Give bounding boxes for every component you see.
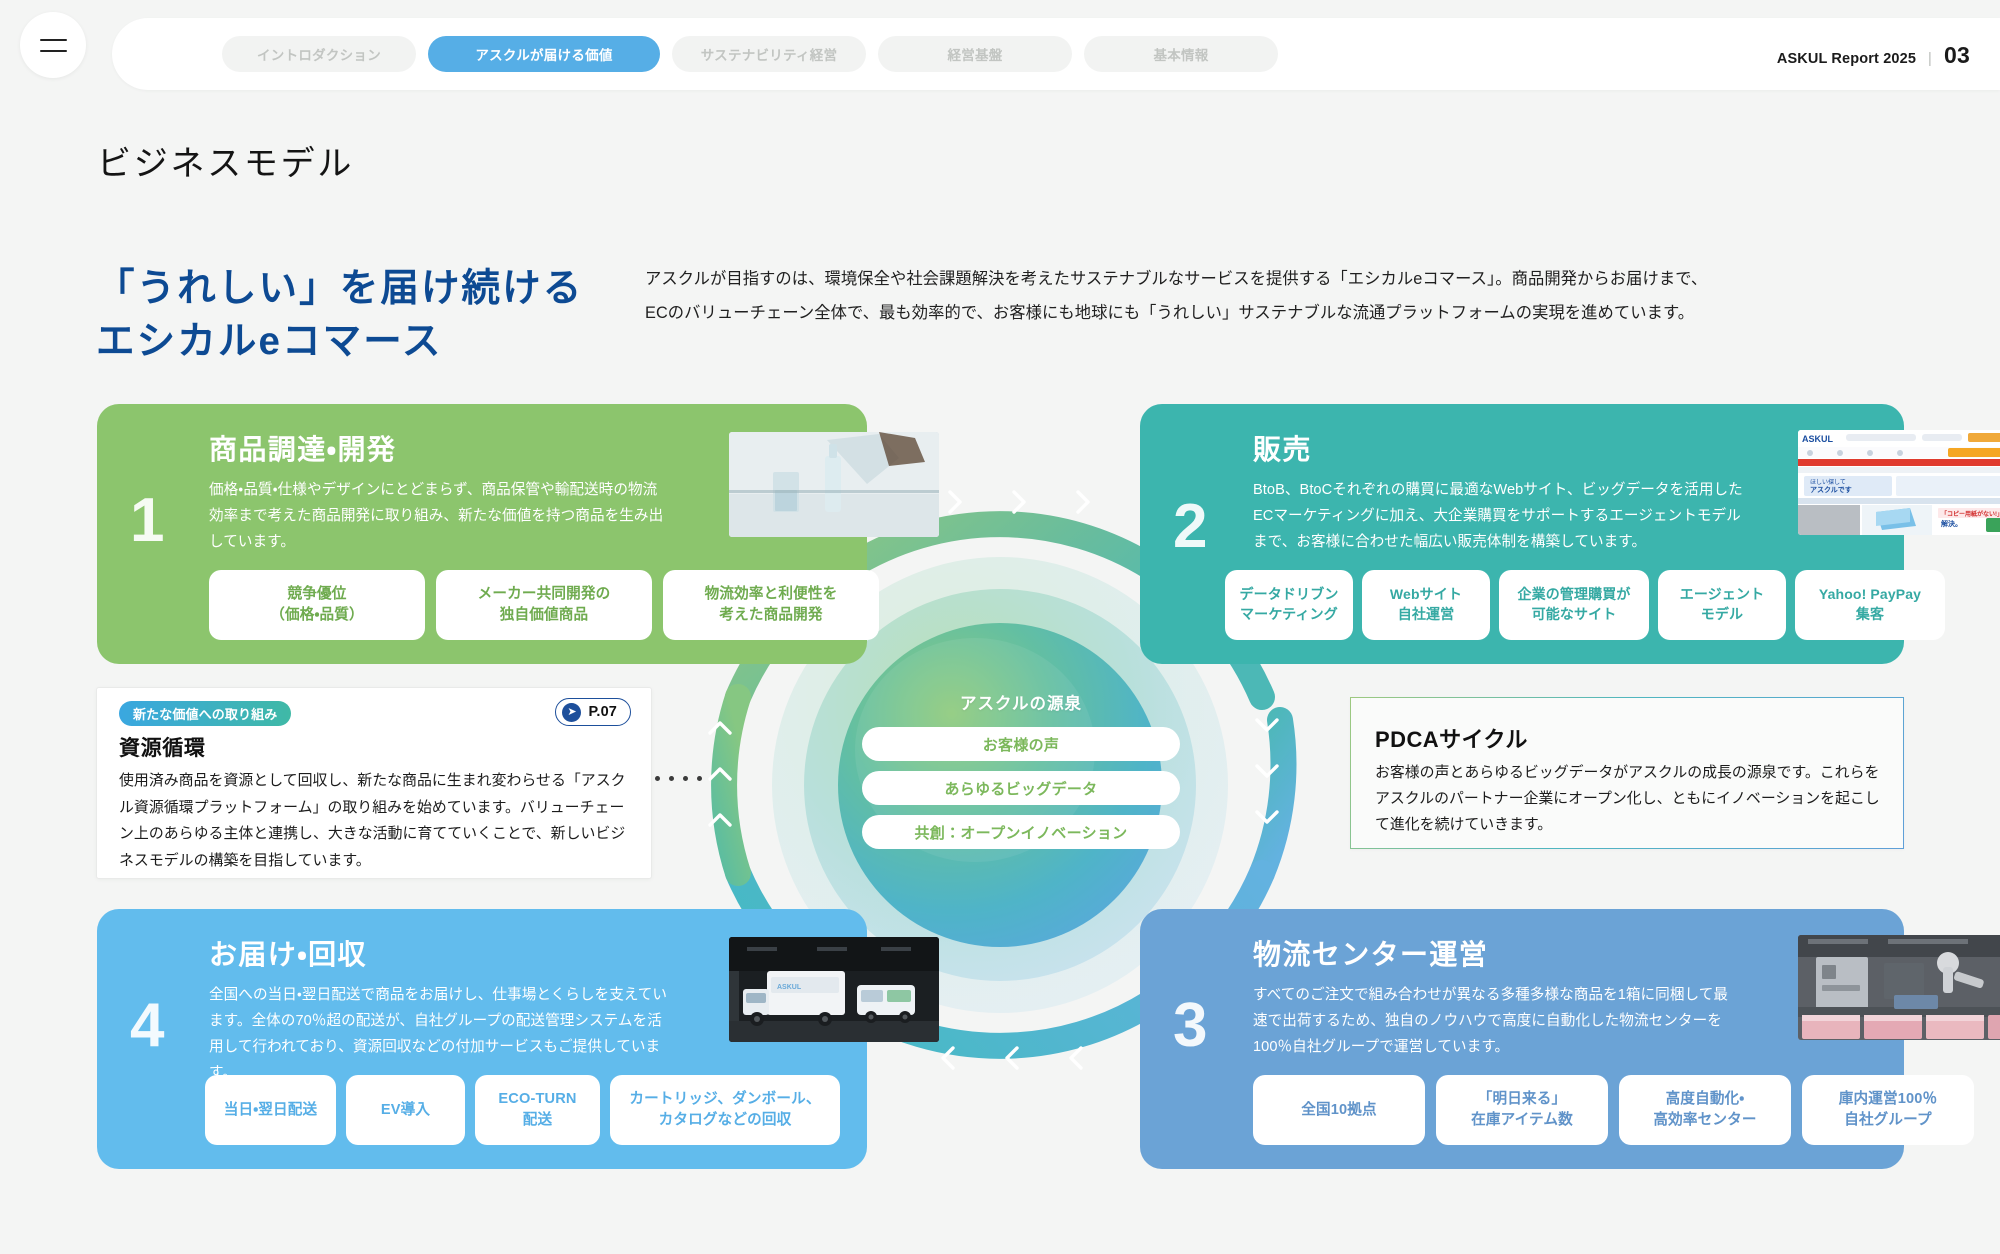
chevrons-left-up	[705, 718, 735, 830]
panel-2-chip-5[interactable]: Yahoo! PayPay 集客	[1795, 570, 1945, 640]
panel-sales: 2 販売 BtoB、BtoCそれぞれの購買に最適なWebサイト、ビッグデータを活…	[1140, 404, 1904, 664]
chip-line-2: （価格・品質）	[270, 607, 364, 623]
chip-line-2: マーケティング	[1240, 606, 1338, 622]
chip-line-1: 「明日来る」	[1478, 1091, 1566, 1107]
resource-card-page-link[interactable]: ➤ P.07	[555, 698, 631, 726]
bottle-pouring-image	[729, 432, 939, 537]
nav-tabs: イントロダクション アスクルが届ける価値 サステナビリティ経営 経営基盤 基本情…	[222, 36, 1278, 72]
resource-circulation-card: 新たな価値への取り組み ➤ P.07 資源循環 使用済み商品を資源として回収し、…	[96, 687, 652, 879]
panel-2-chips: データドリブン マーケティング Webサイト 自社運営 企業の管理購買が 可能な…	[1225, 570, 1945, 640]
panel-4-body: お届け・回収 全国への当日・翌日配送で商品をお届けし、仕事場とくらしを支えていま…	[209, 933, 674, 1087]
chip-line-1: 物流効率と利便性を	[705, 586, 838, 602]
resource-card-body: 使用済み商品を資源として回収し、新たな商品に生まれ変わらせる「アスクル資源循環プ…	[119, 768, 631, 874]
nav-tab-management-base[interactable]: 経営基盤	[878, 36, 1072, 72]
panel-4-chip-4[interactable]: カートリッジ、ダンボール、 カタログなどの回収	[610, 1075, 840, 1145]
lede-heading-line1: 「うれしい」を届け続ける	[96, 262, 583, 315]
panel-4-thumbnail: ASKUL	[729, 937, 939, 1042]
panel-4-chip-1[interactable]: 当日・翌日配送	[205, 1075, 336, 1145]
chip-line-1: EV導入	[381, 1102, 430, 1118]
page-header: イントロダクション アスクルが届ける価値 サステナビリティ経営 経営基盤 基本情…	[0, 0, 2000, 92]
source-block: アスクルの源泉 お客様の声 あらゆるビッグデータ 共創：オープンイノベーション	[862, 690, 1180, 859]
chevrons-right-down	[1252, 715, 1282, 827]
svg-text:解決。: 解決。	[1940, 519, 1962, 528]
panel-1-chip-2[interactable]: メーカー共同開発の 独自価値商品	[436, 570, 652, 640]
chip-line-2: 独自価値商品	[500, 607, 588, 623]
panel-1-chips: 競争優位 （価格・品質） メーカー共同開発の 独自価値商品 物流効率と利便性を …	[209, 570, 879, 640]
chip-line-1: 全国10拠点	[1301, 1102, 1376, 1118]
chip-line-1: カートリッジ、ダンボール、	[629, 1091, 820, 1107]
nav-tab-basic-info[interactable]: 基本情報	[1084, 36, 1278, 72]
panel-4-chip-3[interactable]: ECO-TURN 配送	[475, 1075, 600, 1145]
panel-3-chip-1[interactable]: 全国10拠点	[1253, 1075, 1425, 1145]
automated-warehouse-image	[1798, 935, 2000, 1040]
panel-2-chip-4[interactable]: エージェント モデル	[1658, 570, 1786, 640]
hamburger-menu-icon[interactable]	[20, 12, 86, 78]
panel-1-body: 商品調達・開発 価格・品質・仕様やデザインにとどまらず、商品保管や輸配送時の物流…	[209, 428, 669, 556]
panel-2-chip-1[interactable]: データドリブン マーケティング	[1225, 570, 1353, 640]
lede-heading-line2: エシカルeコマース	[96, 315, 583, 368]
panel-2-chip-2[interactable]: Webサイト 自社運営	[1362, 570, 1490, 640]
chip-line-2: 可能なサイト	[1532, 606, 1617, 622]
nav-tab-sustainability[interactable]: サステナビリティ経営	[672, 36, 866, 72]
panel-procurement-development: 1 商品調達・開発 価格・品質・仕様やデザインにとどまらず、商品保管や輸配送時の…	[97, 404, 867, 664]
chevrons-top-right	[945, 487, 1093, 517]
svg-text:ASKUL: ASKUL	[777, 984, 802, 991]
source-pill-bigdata: あらゆるビッグデータ	[862, 771, 1180, 805]
panel-3-chip-2[interactable]: 「明日来る」 在庫アイテム数	[1436, 1075, 1608, 1145]
panel-4-title: お届け・回収	[209, 933, 674, 973]
arrow-right-icon: ➤	[562, 703, 581, 722]
lede-body-line1: アスクルが目指すのは、環境保全や社会課題解決を考えたサステナブルなサービスを提供…	[645, 263, 1895, 297]
chip-line-1: 競争優位	[288, 586, 347, 602]
svg-text:アスクルです: アスクルです	[1810, 485, 1852, 494]
nav-tab-askul-value[interactable]: アスクルが届ける価値	[428, 36, 660, 72]
chip-line-2: 自社運営	[1398, 606, 1455, 622]
panel-3-chip-3[interactable]: 高度自動化・ 高効率センター	[1619, 1075, 1791, 1145]
panel-2-body: 販売 BtoB、BtoCそれぞれの購買に最適なWebサイト、ビッグデータを活用し…	[1253, 428, 1753, 556]
panel-1-number: 1	[130, 490, 164, 552]
panel-2-chip-3[interactable]: 企業の管理購買が 可能なサイト	[1499, 570, 1649, 640]
nav-tab-introduction[interactable]: イントロダクション	[222, 36, 416, 72]
chip-line-2: 集客	[1856, 606, 1884, 622]
chip-line-1: Yahoo! PayPay	[1819, 586, 1921, 602]
panel-1-desc: 価格・品質・仕様やデザインにとどまらず、商品保管や輸配送時の物流効率まで考えた商…	[209, 478, 669, 556]
report-title: ASKUL Report 2025	[1777, 51, 1916, 67]
resource-card-title: 資源循環	[119, 732, 206, 762]
chip-line-1: 企業の管理購買が	[1517, 586, 1630, 602]
panel-1-title: 商品調達・開発	[209, 428, 669, 468]
panel-4-chip-2[interactable]: EV導入	[346, 1075, 465, 1145]
panel-3-title: 物流センター運営	[1253, 933, 1733, 973]
resource-card-badge: 新たな価値への取り組み	[119, 701, 291, 726]
panel-2-thumbnail: ASKUL ほしい探して アスクルです	[1798, 430, 2000, 535]
chip-line-1: Webサイト	[1390, 586, 1462, 602]
chip-line-2: 考えた商品開発	[719, 607, 822, 623]
chip-line-2: 高効率センター	[1653, 1112, 1756, 1128]
panel-4-number: 4	[130, 995, 164, 1057]
chip-line-1: 庫内運営100％	[1839, 1091, 1938, 1107]
panel-2-number: 2	[1173, 496, 1207, 558]
delivery-trucks-image: ASKUL	[729, 937, 939, 1042]
source-pill-voice: お客様の声	[862, 727, 1180, 761]
askul-website-screenshot: ASKUL ほしい探して アスクルです	[1798, 430, 2000, 535]
chip-line-1: エージェント	[1680, 586, 1765, 602]
chip-line-1: 高度自動化・	[1666, 1091, 1745, 1107]
report-separator: |	[1928, 51, 1932, 67]
panel-1-chip-3[interactable]: 物流効率と利便性を 考えた商品開発	[663, 570, 879, 640]
page-link-label: P.07	[588, 704, 617, 720]
svg-text:ASKUL: ASKUL	[1802, 434, 1834, 444]
panel-3-chips: 全国10拠点 「明日来る」 在庫アイテム数 高度自動化・ 高効率センター 庫内運…	[1253, 1075, 1974, 1145]
pdca-cycle-card: PDCAサイクル お客様の声とあらゆるビッグデータがアスクルの成長の源泉です。こ…	[1350, 697, 1904, 849]
panel-4-desc: 全国への当日・翌日配送で商品をお届けし、仕事場とくらしを支えています。全体の70…	[209, 983, 674, 1087]
panel-3-chip-4[interactable]: 庫内運営100％ 自社グループ	[1802, 1075, 1974, 1145]
panel-1-chip-1[interactable]: 競争優位 （価格・品質）	[209, 570, 425, 640]
panel-3-desc: すべてのご注文で組み合わせが異なる多種多様な商品を1箱に同梱して最速で出荷するた…	[1253, 983, 1733, 1061]
chip-line-2: モデル	[1701, 606, 1743, 622]
source-title: アスクルの源泉	[862, 690, 1180, 714]
page-number: 03	[1944, 42, 1970, 69]
chip-line-2: 配送	[523, 1112, 552, 1128]
chip-line-2: 在庫アイテム数	[1471, 1112, 1573, 1128]
chip-line-1: メーカー共同開発の	[478, 586, 611, 602]
chevrons-bottom-left	[938, 1043, 1086, 1073]
dotted-connector	[655, 776, 702, 781]
panel-4-chips: 当日・翌日配送 EV導入 ECO-TURN 配送 カートリッジ、ダンボール、 カ…	[205, 1075, 840, 1145]
pdca-card-title: PDCAサイクル	[1375, 722, 1528, 754]
svg-text:ほしい探して: ほしい探して	[1810, 478, 1846, 486]
chip-line-2: カタログなどの回収	[659, 1112, 792, 1128]
panel-1-thumbnail	[729, 432, 939, 537]
lede-body-line2: ECのバリューチェーン全体で、最も効率的で、お客様にも地球にも「うれしい」サステ…	[645, 297, 1895, 331]
panel-3-number: 3	[1173, 995, 1207, 1057]
panel-2-title: 販売	[1253, 428, 1753, 468]
source-pill-openinnovation: 共創：オープンイノベーション	[862, 815, 1180, 849]
report-label: ASKUL Report 2025 | 03	[1777, 42, 1970, 69]
panel-2-desc: BtoB、BtoCそれぞれの購買に最適なWebサイト、ビッグデータを活用したEC…	[1253, 478, 1753, 556]
chip-line-2: 自社グループ	[1844, 1112, 1932, 1128]
panel-logistics-center: 3 物流センター運営 すべてのご注文で組み合わせが異なる多種多様な商品を1箱に同…	[1140, 909, 1904, 1169]
page-title: ビジネスモデル	[97, 136, 354, 185]
panel-delivery-collection: 4 お届け・回収 全国への当日・翌日配送で商品をお届けし、仕事場とくらしを支えて…	[97, 909, 867, 1169]
panel-3-body: 物流センター運営 すべてのご注文で組み合わせが異なる多種多様な商品を1箱に同梱し…	[1253, 933, 1733, 1061]
lede-heading: 「うれしい」を届け続ける エシカルeコマース	[96, 262, 583, 368]
svg-text:「コピー用紙がない!」: 「コピー用紙がない!」	[1941, 510, 2000, 518]
lede-body: アスクルが目指すのは、環境保全や社会課題解決を考えたサステナブルなサービスを提供…	[645, 263, 1895, 331]
chip-line-1: データドリブン	[1240, 586, 1339, 602]
pdca-card-body: お客様の声とあらゆるビッグデータがアスクルの成長の源泉です。これらをアスクルのパ…	[1375, 760, 1881, 839]
business-model-page: イントロダクション アスクルが届ける価値 サステナビリティ経営 経営基盤 基本情…	[0, 0, 2000, 1254]
panel-3-thumbnail	[1798, 935, 2000, 1040]
chip-line-1: ECO-TURN	[498, 1091, 576, 1107]
chip-line-1: 当日・翌日配送	[224, 1102, 318, 1118]
